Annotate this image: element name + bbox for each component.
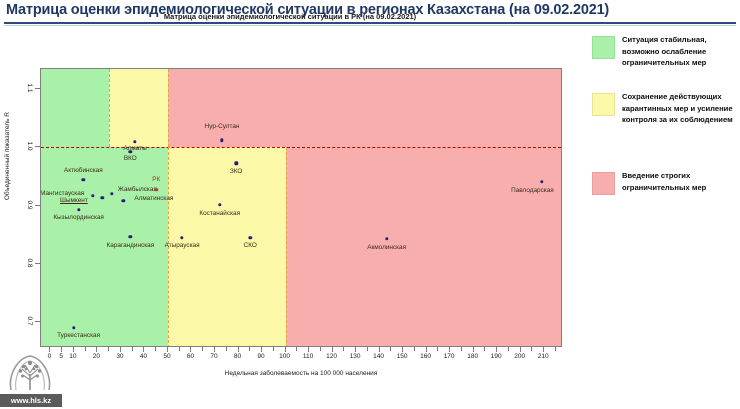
data-point-label: РК bbox=[152, 176, 160, 183]
data-point-label: СКО bbox=[244, 242, 257, 249]
x-minor-tick bbox=[85, 347, 86, 351]
x-tick bbox=[379, 347, 380, 352]
data-point-label: ЗКО bbox=[230, 168, 242, 175]
x-axis-label: Недельная заболеваемость на 100 000 насе… bbox=[40, 370, 562, 377]
data-point-label: Павлодарская bbox=[511, 187, 554, 194]
legend-item-label: Сохранение действующих карантинных мер и… bbox=[622, 91, 740, 126]
legend-item-label: Введение строгих ограничительных мер bbox=[622, 170, 740, 193]
data-point-label: Акмолинская bbox=[367, 244, 406, 251]
x-tick-label: 170 bbox=[444, 353, 455, 360]
x-tick bbox=[214, 347, 215, 352]
legend-color-swatch bbox=[592, 36, 615, 59]
chart-title: Матрица оценки эпидемиологической ситуац… bbox=[0, 12, 580, 21]
x-tick-label: 190 bbox=[491, 353, 502, 360]
x-tick-label: 160 bbox=[420, 353, 431, 360]
y-tick-label: 0.7 bbox=[26, 316, 33, 325]
y-tick-label: 0.8 bbox=[26, 258, 33, 267]
x-tick-label: 10 bbox=[69, 353, 76, 360]
scatter-plot-area: АлматыНур-СултанВКОЗКОАктюбинскаяМангист… bbox=[40, 68, 562, 347]
zone-green-upper bbox=[41, 69, 109, 147]
x-tick bbox=[73, 347, 74, 352]
x-tick-label: 100 bbox=[279, 353, 290, 360]
x-tick bbox=[167, 347, 168, 352]
incidence-threshold-upper-line-25 bbox=[109, 69, 110, 147]
x-tick-label: 70 bbox=[210, 353, 217, 360]
x-tick-label: 40 bbox=[140, 353, 147, 360]
zone-red-upper bbox=[168, 69, 562, 147]
x-minor-tick bbox=[249, 347, 250, 351]
legend-color-swatch bbox=[592, 93, 615, 116]
data-point-label: Мангистауская bbox=[40, 190, 84, 197]
x-tick bbox=[426, 347, 427, 352]
data-point-label: Алматинская bbox=[134, 195, 173, 202]
x-minor-tick bbox=[531, 347, 532, 351]
x-minor-tick bbox=[155, 347, 156, 351]
zone-red-lower bbox=[286, 147, 562, 347]
x-minor-tick bbox=[343, 347, 344, 351]
data-point-label: Актюбинская bbox=[64, 167, 103, 174]
y-tick-label: 0.9 bbox=[26, 200, 33, 209]
x-tick-label: 90 bbox=[257, 353, 264, 360]
y-tick bbox=[35, 146, 40, 147]
x-tick-label: 60 bbox=[187, 353, 194, 360]
y-tick bbox=[35, 205, 40, 206]
x-tick-label: 20 bbox=[93, 353, 100, 360]
legend-color-swatch bbox=[592, 172, 615, 195]
x-tick bbox=[96, 347, 97, 352]
data-point-label: Карагандинская bbox=[107, 242, 155, 249]
x-tick bbox=[120, 347, 121, 352]
x-minor-tick bbox=[226, 347, 227, 351]
y-tick-label: 1.0 bbox=[26, 142, 33, 151]
x-minor-tick bbox=[367, 347, 368, 351]
x-tick bbox=[238, 347, 239, 352]
x-minor-tick bbox=[437, 347, 438, 351]
r-threshold-line bbox=[41, 147, 561, 148]
legend-item-label: Ситуация стабильная, возможно ослабление… bbox=[622, 34, 740, 69]
x-tick bbox=[285, 347, 286, 352]
data-point-label: Атырауская bbox=[165, 242, 200, 249]
y-tick bbox=[35, 263, 40, 264]
x-tick bbox=[143, 347, 144, 352]
data-point-label: Жамбылская bbox=[118, 186, 157, 193]
x-minor-tick bbox=[179, 347, 180, 351]
x-tick bbox=[332, 347, 333, 352]
x-minor-tick bbox=[555, 347, 556, 351]
x-minor-tick bbox=[202, 347, 203, 351]
x-tick-label: 120 bbox=[326, 353, 337, 360]
x-minor-tick bbox=[108, 347, 109, 351]
x-tick bbox=[449, 347, 450, 352]
x-tick bbox=[496, 347, 497, 352]
incidence-threshold-upper-line-50 bbox=[168, 69, 169, 147]
tree-logo-icon bbox=[6, 352, 54, 394]
header-divider bbox=[4, 22, 736, 24]
x-tick bbox=[543, 347, 544, 352]
x-minor-tick bbox=[296, 347, 297, 351]
x-tick bbox=[261, 347, 262, 352]
x-minor-tick bbox=[390, 347, 391, 351]
y-tick bbox=[35, 321, 40, 322]
x-tick-label: 140 bbox=[373, 353, 384, 360]
x-tick-label: 30 bbox=[116, 353, 123, 360]
x-minor-tick bbox=[484, 347, 485, 351]
incidence-threshold-line-100 bbox=[286, 147, 287, 347]
data-point-label: Костанайская bbox=[199, 210, 240, 217]
x-minor-tick bbox=[273, 347, 274, 351]
y-tick-label: 1.1 bbox=[26, 84, 33, 93]
x-minor-tick bbox=[414, 347, 415, 351]
x-minor-tick bbox=[132, 347, 133, 351]
x-tick bbox=[355, 347, 356, 352]
x-tick-label: 80 bbox=[234, 353, 241, 360]
data-point-label: Нур-Султан bbox=[205, 123, 240, 130]
x-tick bbox=[402, 347, 403, 352]
x-minor-tick bbox=[508, 347, 509, 351]
x-tick bbox=[520, 347, 521, 352]
x-tick-label: 50 bbox=[163, 353, 170, 360]
x-minor-tick bbox=[461, 347, 462, 351]
x-tick bbox=[473, 347, 474, 352]
data-point-label: ВКО bbox=[124, 155, 137, 162]
site-url: www.hls.kz bbox=[0, 394, 62, 407]
data-point-label: Шымкент bbox=[60, 197, 88, 204]
x-tick-label: 130 bbox=[350, 353, 361, 360]
header-divider-secondary bbox=[4, 25, 736, 26]
x-tick-label: 150 bbox=[397, 353, 408, 360]
x-tick bbox=[190, 347, 191, 352]
x-tick-label: 200 bbox=[514, 353, 525, 360]
data-point-label: Алматы bbox=[123, 145, 146, 152]
footer-logo: www.hls.kz bbox=[0, 352, 62, 409]
x-tick-label: 210 bbox=[538, 353, 549, 360]
x-tick-label: 110 bbox=[303, 353, 313, 360]
x-tick-label: 180 bbox=[467, 353, 478, 360]
x-minor-tick bbox=[320, 347, 321, 351]
data-point-label: Туркестанская bbox=[57, 332, 100, 339]
data-point-label: Кызылординская bbox=[53, 214, 104, 221]
y-tick bbox=[35, 88, 40, 89]
x-tick bbox=[308, 347, 309, 352]
y-axis-label: Объединенный показатель R bbox=[4, 112, 11, 200]
zone-yellow-upper bbox=[109, 69, 168, 147]
